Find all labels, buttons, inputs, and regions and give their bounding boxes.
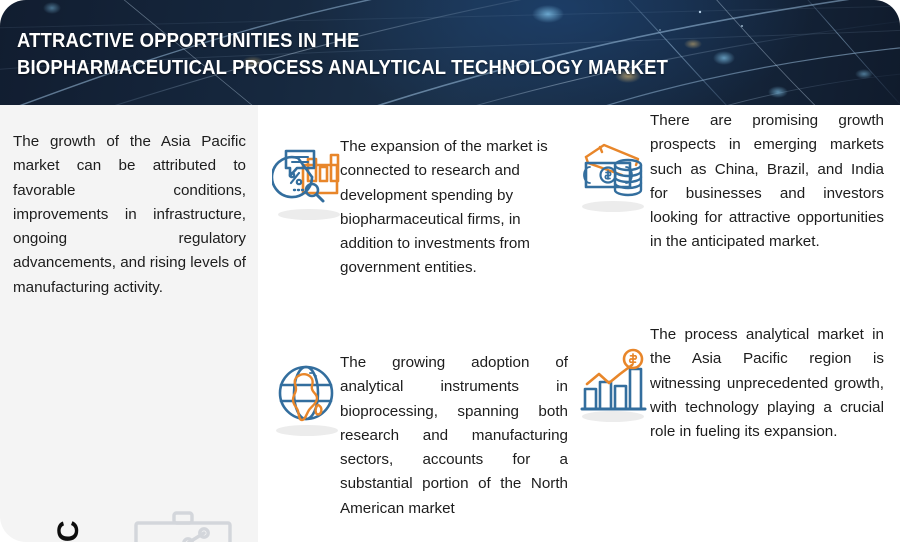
page-title: ATTRACTIVE OPPORTUNITIES IN THE BIOPHARM… [17, 27, 668, 81]
infographic-page: ATTRACTIVE OPPORTUNITIES IN THE BIOPHARM… [0, 0, 900, 542]
presentation-chart-magnifier-icon [126, 507, 242, 542]
insight-text: There are promising growth prospects in … [650, 109, 884, 255]
money-cash-coins-icon [578, 131, 650, 211]
left-panel-paragraph: The growth of the Asia Pacific market ca… [13, 130, 246, 300]
insight-text: The growing adoption of analytical instr… [340, 351, 568, 521]
middle-column: The expansion of the market is connected… [258, 105, 570, 542]
growth-bar-chart-dollar-icon [578, 341, 650, 421]
left-region-panel: The growth of the Asia Pacific market ca… [0, 105, 258, 542]
region-label-line-2: PACIFIC [52, 520, 86, 542]
analytics-speech-bubble-bar-chart-icon [272, 135, 344, 215]
region-label: ASIA PACIFIC [0, 465, 120, 542]
header-banner: ATTRACTIVE OPPORTUNITIES IN THE BIOPHARM… [0, 0, 900, 105]
globe-icon [270, 353, 342, 433]
right-column: There are promising growth prospects in … [570, 105, 900, 542]
insight-text: The expansion of the market is connected… [340, 135, 572, 281]
insight-text: The process analytical market in the Asi… [650, 323, 884, 444]
